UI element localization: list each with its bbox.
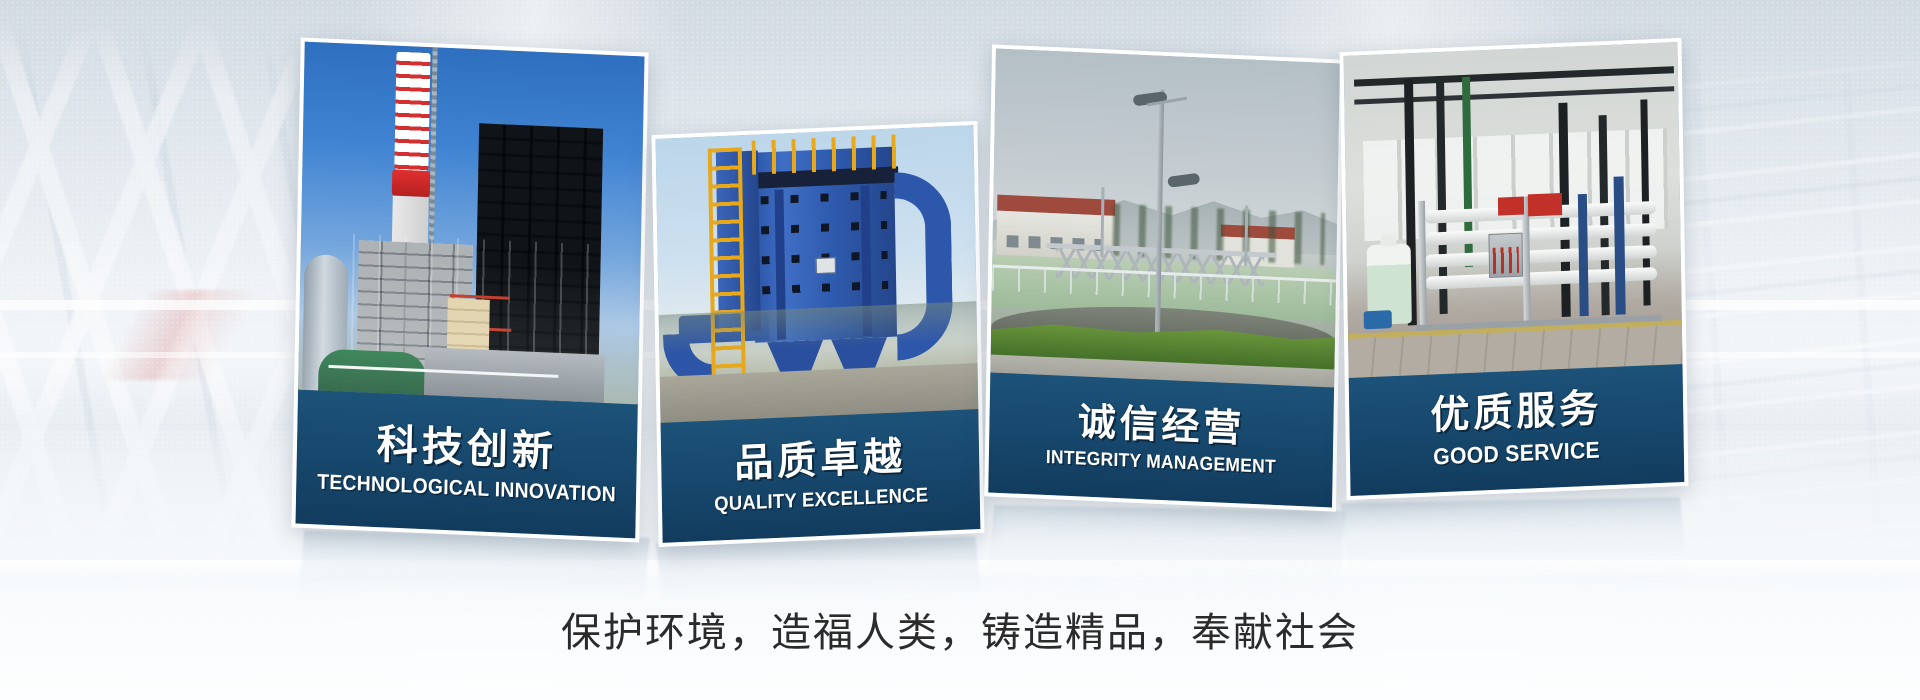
panel-title-en-2: QUALITY EXCELLENCE	[714, 484, 928, 515]
panel-photo-wastewater-plant	[990, 49, 1340, 396]
panel-title-cn-1: 科技创新	[376, 423, 557, 474]
panel-title-en-1: TECHNOLOGICAL INNOVATION	[317, 471, 616, 507]
feature-panel-quality-excellence[interactable]: 品质卓越 QUALITY EXCELLENCE	[652, 121, 985, 547]
panel-caption-1: 科技创新 TECHNOLOGICAL INNOVATION	[295, 390, 637, 539]
blue-pipe-1	[1614, 176, 1626, 314]
red-sign-1	[1498, 197, 1524, 216]
panel-title-cn-4: 优质服务	[1430, 390, 1602, 438]
top-guardrail	[752, 134, 899, 174]
pump-unit	[1364, 310, 1392, 329]
panel-caption-3: 诚信经营 INTEGRITY MANAGEMENT	[988, 372, 1334, 507]
panel-inner-2: 品质卓越 QUALITY EXCELLENCE	[656, 125, 981, 543]
panel-caption-4: 优质服务 GOOD SERVICE	[1349, 364, 1685, 496]
photo-haze-1	[298, 42, 644, 405]
panel-inner-3: 诚信经营 INTEGRITY MANAGEMENT	[988, 49, 1340, 508]
panel-title-cn-3: 诚信经营	[1078, 402, 1246, 449]
banner-tagline: 保护环境，造福人类，铸造精品，奉献社会	[0, 600, 1920, 658]
panel-photo-power-plant	[298, 42, 644, 405]
street-lamp-head2	[1167, 173, 1200, 188]
panel-inner-4: 优质服务 GOOD SERVICE	[1344, 42, 1685, 496]
control-box	[816, 257, 836, 274]
ceiling-pipe-2	[1354, 86, 1674, 104]
control-panel-gauges	[1493, 247, 1519, 274]
panel-caption-2: 品质卓越 QUALITY EXCELLENCE	[661, 409, 981, 543]
panel-photo-ro-water-treatment	[1344, 42, 1683, 386]
tank-neck	[1380, 234, 1396, 247]
panel-title-en-3: INTEGRITY MANAGEMENT	[1046, 448, 1276, 479]
feature-panel-technological-innovation[interactable]: 科技创新 TECHNOLOGICAL INNOVATION	[291, 37, 648, 542]
feature-panel-integrity-management[interactable]: 诚信经营 INTEGRITY MANAGEMENT	[984, 44, 1344, 511]
blue-pipe-2	[1578, 194, 1589, 316]
panel-title-cn-2: 品质卓越	[734, 437, 906, 485]
panel-inner-1: 科技创新 TECHNOLOGICAL INNOVATION	[295, 42, 644, 539]
panel-title-en-4: GOOD SERVICE	[1433, 438, 1600, 470]
feature-panel-good-service[interactable]: 优质服务 GOOD SERVICE	[1340, 38, 1689, 500]
red-sign-2	[1528, 193, 1562, 216]
ceiling-pipe-1	[1354, 66, 1674, 86]
panel-photo-dust-collector	[656, 125, 979, 431]
